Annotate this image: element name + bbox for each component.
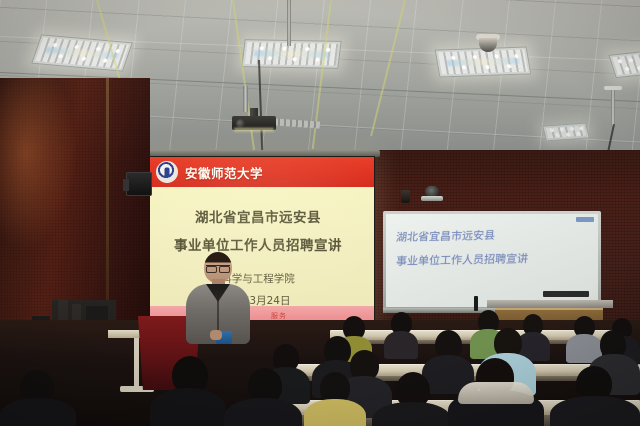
ceiling-dome-camera-icon xyxy=(476,34,500,54)
fur-hood-trim xyxy=(458,382,534,404)
wall-ptz-camera-icon xyxy=(421,186,443,202)
side-table-leg xyxy=(134,338,139,390)
lamp-dots xyxy=(543,124,588,141)
audience-body xyxy=(0,398,76,426)
slide-subtitle-department: 科学与工程学院 xyxy=(142,271,374,286)
whiteboard-handwriting-line2: 事业单位工作人员招聘宣讲 xyxy=(395,248,587,272)
whiteboard-handwriting-line1: 湖北省宜昌市远安县 xyxy=(395,224,587,248)
lectern-equipment xyxy=(543,291,589,297)
projector-beam xyxy=(234,128,274,133)
wall-speaker xyxy=(126,172,152,196)
audience-member xyxy=(448,358,544,426)
screen-surface: 安徽师范大学 湖北省宜昌市远安县 事业单位工作人员招聘宣讲 科学与工程学院 17… xyxy=(142,157,374,326)
whiteboard-corner-tag xyxy=(576,217,594,222)
slide-title-line2: 事业单位工作人员招聘宣讲 xyxy=(142,234,374,254)
lamp-dots xyxy=(610,51,640,77)
ptz-camera-base xyxy=(421,196,443,201)
audience-member xyxy=(150,356,226,426)
audience-member xyxy=(304,372,366,426)
slide-banner: 安徽师范大学 xyxy=(142,157,374,187)
audience-body xyxy=(224,398,302,426)
classroom-photo: 安徽师范大学 湖北省宜昌市远安县 事业单位工作人员招聘宣讲 科学与工程学院 17… xyxy=(0,0,640,426)
audience-member xyxy=(0,370,76,426)
audience-member xyxy=(372,372,452,426)
university-emblem-icon xyxy=(156,161,178,183)
slide-body: 湖北省宜昌市远安县 事业单位工作人员招聘宣讲 科学与工程学院 17年3月24日 xyxy=(142,187,374,306)
lectern-top xyxy=(487,300,613,308)
wall-speaker-small-icon xyxy=(401,190,410,203)
ceiling-drop-pole xyxy=(287,0,291,46)
slide-title-line1: 湖北省宜昌市远安县 xyxy=(142,206,374,226)
audience-body xyxy=(150,388,226,426)
audience-member xyxy=(550,366,640,426)
speaker-bracket xyxy=(123,179,129,191)
presenter-hand xyxy=(210,330,222,340)
audience-body xyxy=(372,402,452,426)
ceiling-drop-pole-right xyxy=(611,88,615,126)
audience-body xyxy=(550,396,640,426)
projector-mount-pole xyxy=(243,86,248,112)
projection-screen: 安徽师范大学 湖北省宜昌市远安县 事业单位工作人员招聘宣讲 科学与工程学院 17… xyxy=(141,156,375,327)
presenter-speaker xyxy=(186,252,250,344)
ceiling-pole-plate xyxy=(604,86,622,90)
audience-member xyxy=(224,368,302,426)
audience-body xyxy=(304,399,366,426)
wall-light-glow xyxy=(0,78,110,328)
whiteboard-marker-pen xyxy=(474,296,478,311)
camera-dome xyxy=(479,38,497,52)
university-name: 安徽师范大学 xyxy=(185,163,263,182)
eyeglasses-icon xyxy=(206,265,230,271)
ceiling-projector xyxy=(232,110,276,132)
light-panel-rear xyxy=(542,123,590,142)
projector-lens-icon xyxy=(236,119,245,128)
